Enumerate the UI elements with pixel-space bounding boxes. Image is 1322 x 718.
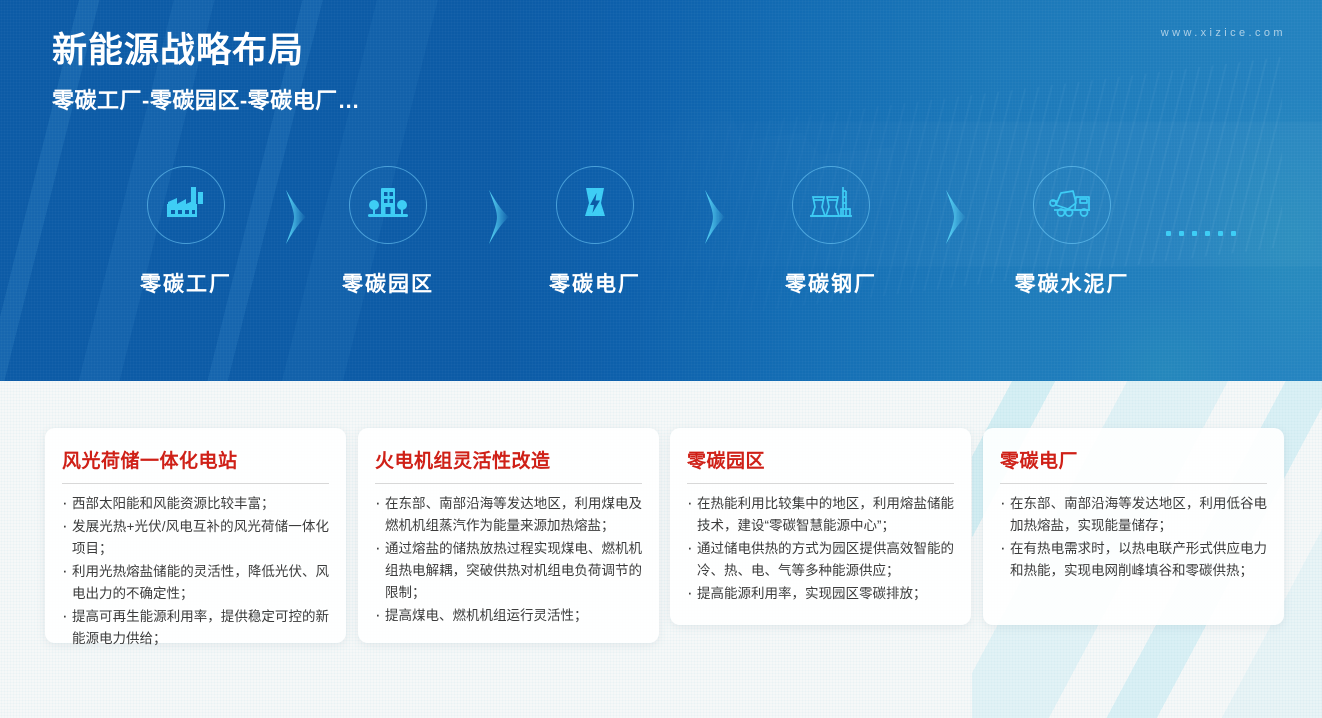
step-label: 零碳工厂 xyxy=(96,268,276,298)
step-icon-circle xyxy=(1033,166,1111,244)
card-divider xyxy=(375,483,642,484)
list-item: 通过储电供热的方式为园区提供高效智能的冷、热、电、气等多种能源供应； xyxy=(687,538,954,582)
card-title: 风光荷储一体化电站 xyxy=(62,446,329,483)
list-item: 在热能利用比较集中的地区，利用熔盐储能技术，建设“零碳智慧能源中心”； xyxy=(687,493,954,537)
step-zero-carbon-cement-plant[interactable]: 零碳水泥厂 xyxy=(982,166,1162,298)
dot xyxy=(1231,231,1236,236)
card-wind-solar-storage[interactable]: 风光荷储一体化电站 西部太阳能和风能资源比较丰富； 发展光热+光伏/风电互补的风… xyxy=(45,428,346,643)
page-subtitle: 零碳工厂-零碳园区-零碳电厂… xyxy=(52,83,360,115)
list-item: 利用光热熔盐储能的灵活性，降低光伏、风电出力的不确定性； xyxy=(62,561,329,605)
list-item: 在有热电需求时，以热电联产形式供应电力和热能，实现电网削峰填谷和零碳供热； xyxy=(1000,538,1267,582)
card-title: 零碳园区 xyxy=(687,446,954,483)
card-title: 零碳电厂 xyxy=(1000,446,1267,483)
office-park-icon xyxy=(366,183,410,228)
page-title: 新能源战略布局 xyxy=(52,30,304,72)
card-divider xyxy=(687,483,954,484)
trailing-dots xyxy=(1166,231,1236,236)
list-item: 发展光热+光伏/风电互补的风光荷储一体化项目； xyxy=(62,516,329,560)
card-title: 火电机组灵活性改造 xyxy=(375,446,642,483)
dot xyxy=(1205,231,1210,236)
list-item: 在东部、南部沿海等发达地区，利用低谷电加热熔盐，实现能量储存； xyxy=(1000,493,1267,537)
dot xyxy=(1179,231,1184,236)
card-bullet-list: 西部太阳能和风能资源比较丰富； 发展光热+光伏/风电互补的风光荷储一体化项目； … xyxy=(62,493,329,650)
step-label: 零碳钢厂 xyxy=(741,268,921,298)
steel-plant-icon xyxy=(808,183,854,228)
hero-banner: 新能源战略布局 零碳工厂-零碳园区-零碳电厂… www.xizice.com xyxy=(0,0,1322,381)
chevron-right-icon xyxy=(705,190,739,244)
step-icon-circle xyxy=(556,166,634,244)
card-divider xyxy=(1000,483,1267,484)
step-zero-carbon-park[interactable]: 零碳园区 xyxy=(298,166,478,298)
step-label: 零碳电厂 xyxy=(505,268,685,298)
step-zero-carbon-power-plant[interactable]: 零碳电厂 xyxy=(505,166,685,298)
detail-section: 风光荷储一体化电站 西部太阳能和风能资源比较丰富； 发展光热+光伏/风电互补的风… xyxy=(0,381,1322,718)
site-watermark: www.xizice.com xyxy=(1161,27,1286,39)
dot xyxy=(1192,231,1197,236)
step-zero-carbon-factory[interactable]: 零碳工厂 xyxy=(96,166,276,298)
cement-mixer-truck-icon xyxy=(1048,183,1096,228)
card-grid: 风光荷储一体化电站 西部太阳能和风能资源比较丰富； 发展光热+光伏/风电互补的风… xyxy=(0,381,1322,718)
step-icon-circle xyxy=(349,166,427,244)
card-thermal-unit-flexibility[interactable]: 火电机组灵活性改造 在东部、南部沿海等发达地区，利用煤电及燃机机组蒸汽作为能量来… xyxy=(358,428,659,643)
dot xyxy=(1218,231,1223,236)
chevron-right-icon xyxy=(946,190,980,244)
power-plant-bolt-icon xyxy=(575,183,615,228)
list-item: 西部太阳能和风能资源比较丰富； xyxy=(62,493,329,515)
card-zero-carbon-park[interactable]: 零碳园区 在热能利用比较集中的地区，利用熔盐储能技术，建设“零碳智慧能源中心”；… xyxy=(670,428,971,625)
list-item: 在东部、南部沿海等发达地区，利用煤电及燃机机组蒸汽作为能量来源加热熔盐； xyxy=(375,493,642,537)
card-bullet-list: 在东部、南部沿海等发达地区，利用低谷电加热熔盐，实现能量储存； 在有热电需求时，… xyxy=(1000,493,1267,582)
slide-root: 新能源战略布局 零碳工厂-零碳园区-零碳电厂… www.xizice.com xyxy=(0,0,1322,718)
card-bullet-list: 在热能利用比较集中的地区，利用熔盐储能技术，建设“零碳智慧能源中心”； 通过储电… xyxy=(687,493,954,605)
list-item: 通过熔盐的储热放热过程实现煤电、燃机机组热电解耦，突破供热对机组电负荷调节的限制… xyxy=(375,538,642,604)
list-item: 提高煤电、燃机机组运行灵活性； xyxy=(375,605,642,627)
step-zero-carbon-steel-plant[interactable]: 零碳钢厂 xyxy=(741,166,921,298)
card-zero-carbon-power-plant[interactable]: 零碳电厂 在东部、南部沿海等发达地区，利用低谷电加热熔盐，实现能量储存； 在有热… xyxy=(983,428,1284,625)
step-label: 零碳水泥厂 xyxy=(982,268,1162,298)
factory-icon xyxy=(164,183,208,228)
card-bullet-list: 在东部、南部沿海等发达地区，利用煤电及燃机机组蒸汽作为能量来源加热熔盐； 通过熔… xyxy=(375,493,642,627)
list-item: 提高可再生能源利用率，提供稳定可控的新能源电力供给； xyxy=(62,606,329,650)
step-icon-circle xyxy=(147,166,225,244)
list-item: 提高能源利用率，实现园区零碳排放； xyxy=(687,583,954,605)
card-divider xyxy=(62,483,329,484)
dot xyxy=(1166,231,1171,236)
process-steps: 零碳工厂 xyxy=(0,166,1322,316)
step-label: 零碳园区 xyxy=(298,268,478,298)
step-icon-circle xyxy=(792,166,870,244)
